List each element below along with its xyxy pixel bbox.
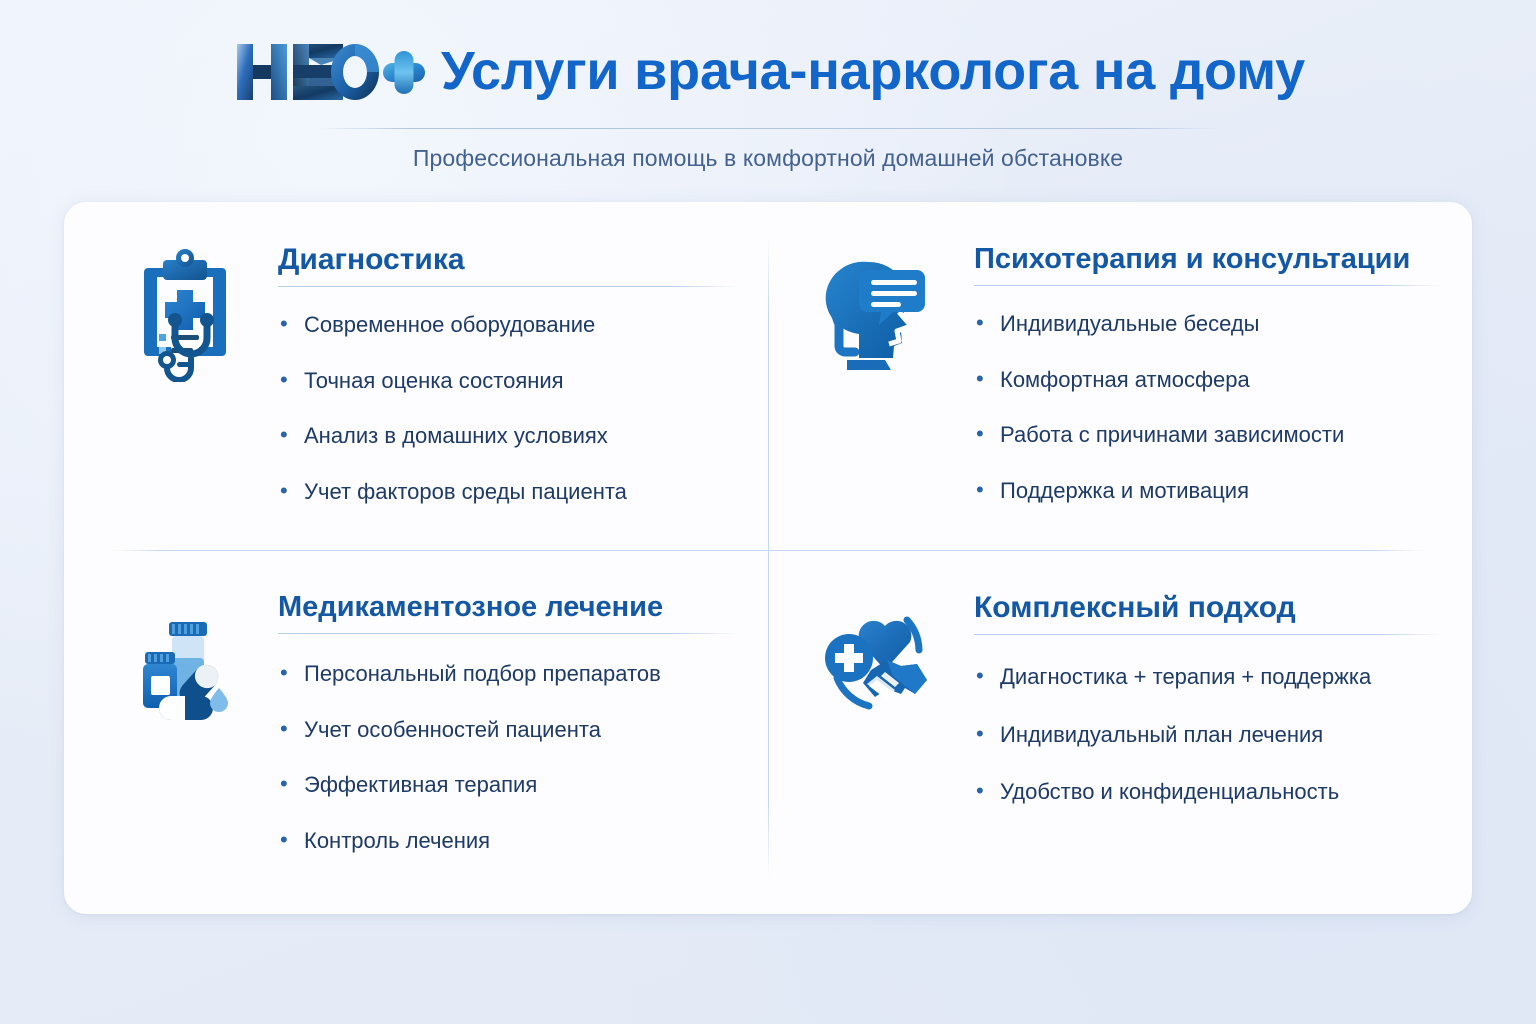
section-title-rule — [278, 286, 738, 287]
service-block-psihoterapiya: Психотерапия и консультации Индивидуальн… — [768, 202, 1472, 558]
pills-bottles-icon — [115, 600, 255, 740]
service-content: Психотерапия и консультации Индивидуальн… — [974, 238, 1442, 504]
list-item: Современное оборудование — [278, 311, 738, 339]
clipboard-stethoscope-icon-wrap — [110, 238, 260, 388]
neo-plus-logo-icon — [231, 36, 427, 108]
section-title-kompleksnyi-podhod: Комплексный подход — [974, 590, 1442, 625]
list-item: Индивидуальные беседы — [974, 310, 1442, 338]
head-speech-bubble-icon — [811, 242, 951, 382]
service-content: Диагностика Современное оборудование Точ… — [278, 238, 738, 505]
section-title-rule — [974, 634, 1442, 635]
infographic-page: Услуги врача-нарколога на дому Профессио… — [0, 0, 1536, 1024]
services-card: Диагностика Современное оборудование Точ… — [64, 202, 1472, 914]
service-block-kompleksnyi-podhod: Комплексный подход Диагностика + терапия… — [768, 558, 1472, 914]
header: Услуги врача-нарколога на дому Профессио… — [0, 0, 1536, 196]
services-grid: Диагностика Современное оборудование Точ… — [64, 202, 1472, 914]
list-item: Учет факторов среды пациента — [278, 478, 738, 506]
service-content: Комплексный подход Диагностика + терапия… — [974, 586, 1442, 836]
service-block-diagnostika: Диагностика Современное оборудование Точ… — [64, 202, 768, 558]
list-item: Работа с причинами зависимости — [974, 421, 1442, 449]
section-title-psihoterapiya: Психотерапия и консультации — [974, 242, 1442, 276]
section-title-medikamentoznoe-lechenie: Медикаментозное лечение — [278, 590, 738, 624]
list-item: Анализ в домашних условиях — [278, 422, 738, 450]
list-item: Точная оценка состояния — [278, 367, 738, 395]
heart-handshake-cross-icon — [811, 592, 951, 732]
bullet-list-kompleksnyi-podhod: Диагностика + терапия + поддержка Индиви… — [974, 663, 1442, 806]
bullet-list-psihoterapiya: Индивидуальные беседы Комфортная атмосфе… — [974, 310, 1442, 504]
list-item: Контроль лечения — [278, 827, 738, 855]
section-title-rule — [278, 633, 738, 634]
list-item: Эффективная терапия — [278, 771, 738, 799]
list-item: Диагностика + терапия + поддержка — [974, 663, 1442, 691]
clipboard-stethoscope-icon — [115, 242, 255, 382]
bullet-list-medikamentoznoe-lechenie: Персональный подбор препаратов Учет особ… — [278, 660, 738, 854]
list-item: Учет особенностей пациента — [278, 716, 738, 744]
list-item: Удобство и конфиденциальность — [974, 778, 1442, 806]
list-item: Индивидуальный план лечения — [974, 721, 1442, 749]
pills-bottles-icon-wrap — [110, 586, 260, 736]
header-divider — [318, 128, 1218, 129]
bullet-list-diagnostika: Современное оборудование Точная оценка с… — [278, 311, 738, 505]
service-content: Медикаментозное лечение Персональный под… — [278, 586, 738, 854]
title-row: Услуги врача-нарколога на дому — [0, 36, 1536, 108]
heart-handshake-cross-icon-wrap — [806, 586, 956, 736]
page-title: Услуги врача-нарколога на дому — [441, 43, 1305, 100]
service-block-medikamentoznoe-lechenie: Медикаментозное лечение Персональный под… — [64, 558, 768, 914]
section-title-diagnostika: Диагностика — [278, 242, 738, 277]
page-subtitle: Профессиональная помощь в комфортной дом… — [0, 145, 1536, 172]
list-item: Комфортная атмосфера — [974, 366, 1442, 394]
list-item: Персональный подбор препаратов — [278, 660, 738, 688]
list-item: Поддержка и мотивация — [974, 477, 1442, 505]
head-speech-bubble-icon-wrap — [806, 238, 956, 388]
section-title-rule — [974, 285, 1442, 286]
